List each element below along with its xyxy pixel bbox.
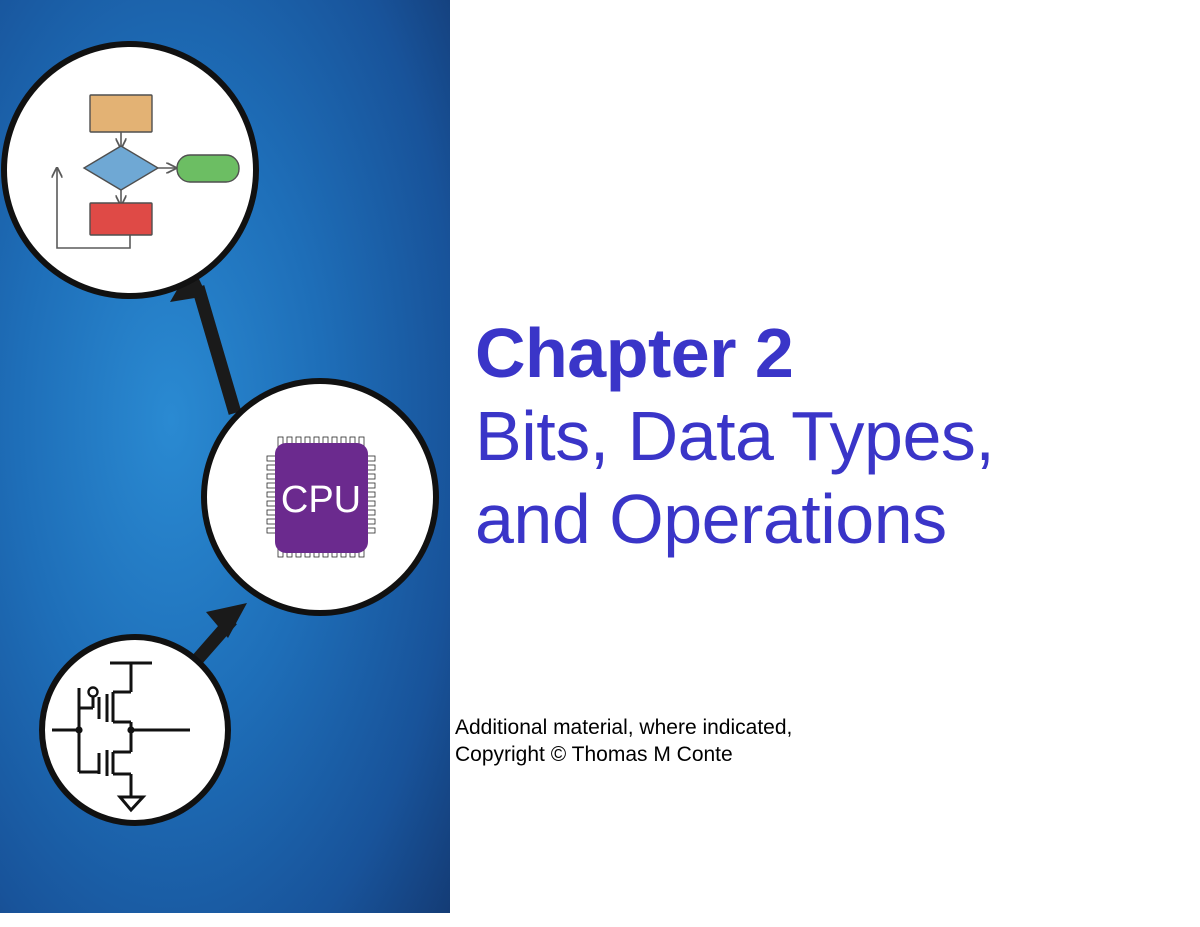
title-line-1: Chapter 2 bbox=[475, 312, 1195, 395]
title-line-3: and Operations bbox=[475, 478, 1195, 561]
credit-line-2: Copyright © Thomas M Conte bbox=[455, 741, 1175, 768]
title-slide: CPU bbox=[0, 0, 1200, 927]
art-panel: CPU bbox=[0, 0, 450, 913]
slide-title: Chapter 2 Bits, Data Types, and Operatio… bbox=[475, 312, 1195, 561]
output-junction bbox=[127, 726, 134, 733]
flowchart-terminator bbox=[177, 155, 239, 182]
cpu-circle: CPU bbox=[204, 381, 436, 613]
cpu-chip: CPU bbox=[267, 437, 375, 557]
input-junction bbox=[75, 726, 82, 733]
cpu-label: CPU bbox=[281, 479, 361, 521]
pmos-gate-bubble bbox=[89, 688, 98, 697]
flowchart-process-top bbox=[90, 95, 152, 132]
credit-line-1: Additional material, where indicated, bbox=[455, 714, 1175, 741]
credit-note: Additional material, where indicated, Co… bbox=[455, 714, 1175, 768]
transistor-circle bbox=[42, 637, 228, 823]
flowchart-circle bbox=[4, 44, 256, 296]
text-column: Chapter 2 Bits, Data Types, and Operatio… bbox=[455, 0, 1200, 927]
abstraction-layers-illustration: CPU bbox=[0, 0, 450, 913]
flowchart-process-bottom bbox=[90, 203, 152, 235]
title-line-2: Bits, Data Types, bbox=[475, 395, 1195, 478]
